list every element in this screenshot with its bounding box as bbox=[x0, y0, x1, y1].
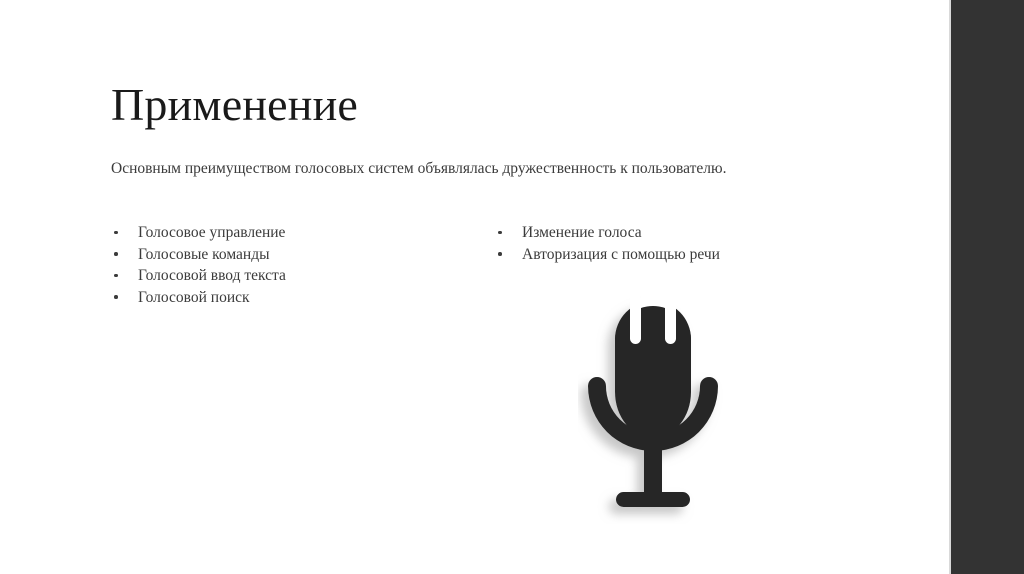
accent-band bbox=[951, 0, 1024, 574]
list-item-label: Авторизация с помощью речи bbox=[522, 246, 720, 263]
bullet-dot-icon bbox=[498, 231, 502, 235]
subtitle-text: Основным преимуществом голосовых систем … bbox=[111, 158, 841, 179]
list-item: Голосовое управление bbox=[113, 222, 453, 244]
list-item: Изменение голоса bbox=[497, 222, 837, 244]
list-item: Голосовой поиск bbox=[113, 287, 453, 309]
bullet-dot-icon bbox=[114, 274, 118, 278]
list-item: Авторизация с помощью речи bbox=[497, 244, 837, 266]
bullet-dot-icon bbox=[114, 252, 118, 256]
bullet-dot-icon bbox=[498, 252, 502, 256]
microphone-icon bbox=[578, 294, 728, 524]
page-title: Применение bbox=[111, 79, 358, 131]
list-item-label: Голосовые команды bbox=[138, 246, 270, 263]
microphone-illustration bbox=[578, 294, 728, 524]
list-item: Голосовые команды bbox=[113, 244, 453, 266]
microphone-prongs bbox=[615, 306, 691, 339]
slide: Применение Основным преимуществом голосо… bbox=[0, 0, 1024, 574]
list-item: Голосовой ввод текста bbox=[113, 265, 453, 287]
list-item-label: Голосовое управление bbox=[138, 224, 285, 241]
bullet-list-left: Голосовое управление Голосовые команды Г… bbox=[113, 222, 453, 308]
list-item-label: Голосовой ввод текста bbox=[138, 267, 286, 284]
bullet-dot-icon bbox=[114, 295, 118, 299]
bullet-dot-icon bbox=[114, 231, 118, 235]
list-item-label: Голосовой поиск bbox=[138, 289, 250, 306]
bullet-list-right: Изменение голоса Авторизация с помощью р… bbox=[497, 222, 837, 265]
list-item-label: Изменение голоса bbox=[522, 224, 642, 241]
